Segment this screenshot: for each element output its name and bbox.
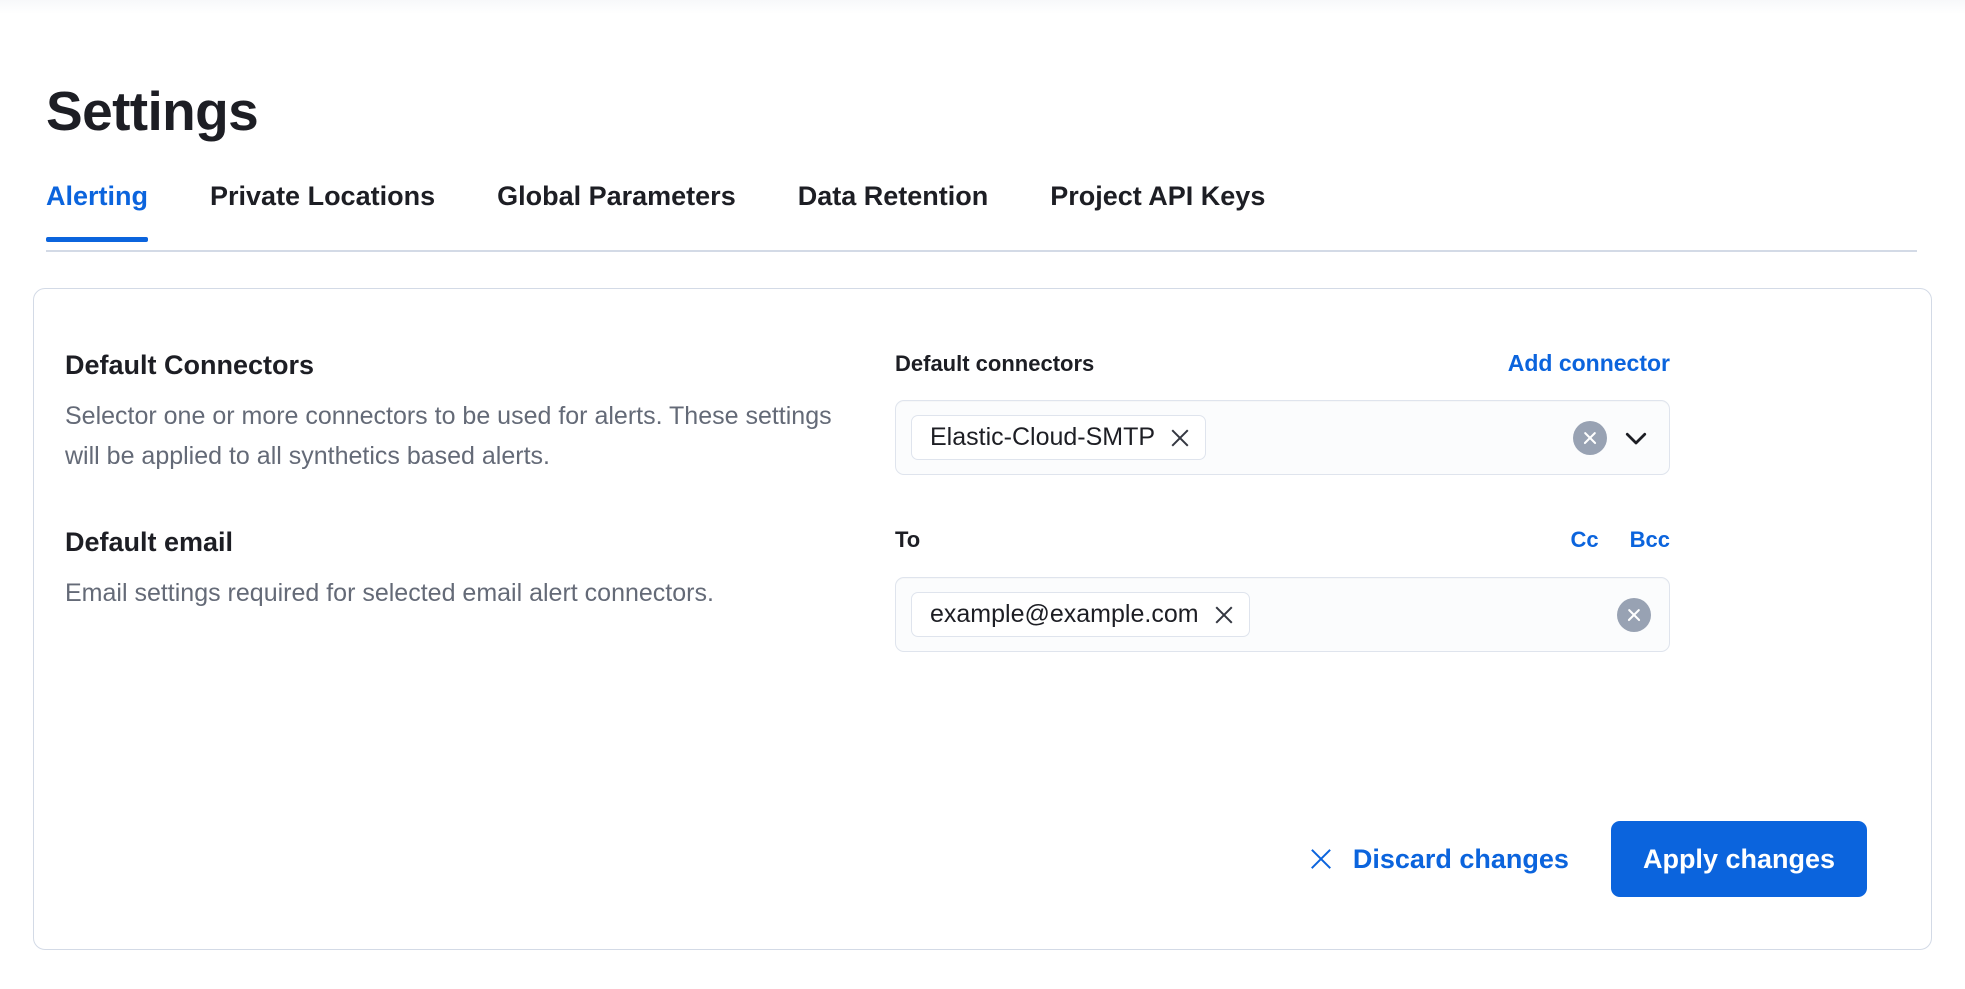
- default-email-row: Default email Email settings required fo…: [65, 526, 1867, 652]
- recipient-pill-label: example@example.com: [930, 592, 1199, 637]
- default-email-description-column: Default email Email settings required fo…: [65, 526, 895, 613]
- default-connectors-field-head: Default connectors Add connector: [895, 349, 1670, 383]
- default-connectors-row: Default Connectors Selector one or more …: [65, 349, 1867, 476]
- cc-bcc-links: Cc Bcc: [1571, 526, 1670, 554]
- connector-pill[interactable]: Elastic-Cloud-SMTP: [911, 415, 1206, 460]
- discard-changes-label: Discard changes: [1353, 843, 1569, 875]
- default-connectors-field-label: Default connectors: [895, 350, 1094, 378]
- chevron-down-icon[interactable]: [1621, 423, 1651, 453]
- default-connectors-combobox-actions: [1573, 421, 1651, 455]
- tab-data-retention[interactable]: Data Retention: [798, 180, 989, 240]
- tab-global-parameters[interactable]: Global Parameters: [497, 180, 736, 240]
- default-connectors-description-column: Default Connectors Selector one or more …: [65, 349, 895, 476]
- settings-tabs: Alerting Private Locations Global Parame…: [46, 180, 1917, 252]
- default-email-field-head: To Cc Bcc: [895, 526, 1670, 560]
- default-email-description: Email settings required for selected ema…: [65, 573, 835, 613]
- to-recipients-combobox[interactable]: example@example.com: [895, 577, 1670, 652]
- connector-pill-label: Elastic-Cloud-SMTP: [930, 415, 1155, 460]
- bcc-link[interactable]: Bcc: [1630, 526, 1670, 554]
- default-connectors-description: Selector one or more connectors to be us…: [65, 396, 835, 476]
- add-connector-link[interactable]: Add connector: [1508, 349, 1670, 377]
- default-connectors-title: Default Connectors: [65, 349, 835, 382]
- tab-private-locations[interactable]: Private Locations: [210, 180, 435, 240]
- default-connectors-field-column: Default connectors Add connector Elastic…: [895, 349, 1670, 475]
- panel-footer-actions: Discard changes Apply changes: [1296, 821, 1867, 897]
- remove-recipient-icon[interactable]: [1213, 604, 1235, 626]
- default-connectors-combobox[interactable]: Elastic-Cloud-SMTP: [895, 400, 1670, 475]
- alerting-settings-panel: Default Connectors Selector one or more …: [33, 288, 1932, 950]
- settings-page: Settings Alerting Private Locations Glob…: [0, 0, 1965, 989]
- close-x-icon: [1308, 846, 1334, 872]
- tab-alerting[interactable]: Alerting: [46, 180, 148, 240]
- apply-changes-button[interactable]: Apply changes: [1611, 821, 1867, 897]
- to-recipients-combobox-actions: [1617, 598, 1651, 632]
- remove-connector-icon[interactable]: [1169, 427, 1191, 449]
- page-title: Settings: [46, 79, 258, 143]
- tab-project-api-keys[interactable]: Project API Keys: [1050, 180, 1265, 240]
- discard-changes-button[interactable]: Discard changes: [1296, 833, 1581, 885]
- default-email-title: Default email: [65, 526, 835, 559]
- clear-recipients-icon[interactable]: [1617, 598, 1651, 632]
- default-email-field-column: To Cc Bcc example@example.com: [895, 526, 1670, 652]
- recipient-pill[interactable]: example@example.com: [911, 592, 1250, 637]
- to-field-label: To: [895, 526, 920, 554]
- cc-link[interactable]: Cc: [1571, 526, 1599, 554]
- clear-connectors-icon[interactable]: [1573, 421, 1607, 455]
